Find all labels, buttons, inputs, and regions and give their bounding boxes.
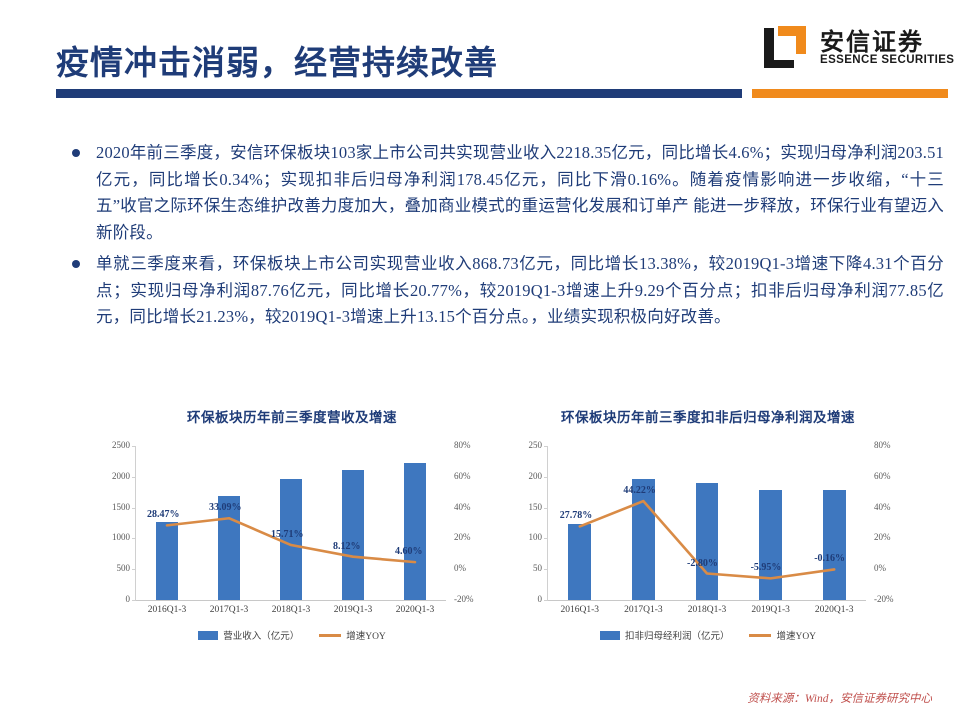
- y2-axis-tick-label: 0%: [454, 563, 490, 573]
- y-axis-line: [135, 446, 136, 600]
- data-point-label: 27.78%: [560, 510, 593, 521]
- y2-axis-tick-label: 40%: [454, 502, 490, 512]
- y-axis-tick-label: 2500: [96, 440, 130, 450]
- bullet-text: 2020年前三季度，安信环保板块103家上市公司共实现营业收入2218.35亿元…: [96, 140, 944, 247]
- legend-item[interactable]: 增速YOY: [319, 628, 386, 642]
- list-item: 单就三季度来看，环保板块上市公司实现营业收入868.73亿元，同比增长13.38…: [64, 251, 944, 331]
- bullet-dot-icon: [72, 149, 80, 157]
- bar-2019Q1-3: [342, 470, 364, 600]
- data-point-label: 8.12%: [333, 541, 361, 552]
- data-point-label: -5.95%: [751, 562, 782, 573]
- y2-axis-tick-label: 20%: [874, 532, 910, 542]
- x-axis-category-label: 2018Q1-3: [675, 605, 739, 615]
- bar-2020Q1-3: [404, 463, 426, 600]
- chart-title: 环保板块历年前三季度扣非后归母净利润及增速: [508, 406, 908, 426]
- logo-english-name: ESSENCE SECURITIES: [820, 54, 954, 66]
- legend-label: 增速YOY: [346, 628, 386, 642]
- chart-title: 环保板块历年前三季度营收及增速: [96, 406, 488, 426]
- y2-axis-tick-label: 60%: [874, 471, 910, 481]
- x-axis-category-label: 2016Q1-3: [136, 605, 198, 615]
- x-axis-category-label: 2020Q1-3: [384, 605, 446, 615]
- y-axis-tick-label: 1000: [96, 532, 130, 542]
- bar-2016Q1-3: [156, 522, 178, 600]
- data-point-label: -2.80%: [687, 558, 718, 569]
- x-axis-category-label: 2017Q1-3: [198, 605, 260, 615]
- essence-logo-mark-icon: [760, 22, 810, 72]
- legend-bar-swatch-icon: [600, 631, 620, 640]
- y-axis-tick-label: 500: [96, 563, 130, 573]
- legend-line-swatch-icon: [319, 634, 341, 637]
- chart-deducted-profit: 环保板块历年前三季度扣非后归母净利润及增速 25020015010050080%…: [508, 400, 908, 670]
- source-note: 资料来源：Wind，安信证券研究中心: [747, 690, 932, 706]
- y2-axis-tick-label: -20%: [454, 594, 490, 604]
- legend-item[interactable]: 增速YOY: [749, 628, 816, 642]
- data-point-label: 4.60%: [395, 546, 423, 557]
- y-axis-tick-label: 150: [508, 502, 542, 512]
- x-axis-category-label: 2019Q1-3: [322, 605, 384, 615]
- y-axis-tick-label: 50: [508, 563, 542, 573]
- chart-legend: 扣非归母经利润（亿元）增速YOY: [508, 628, 908, 642]
- data-point-label: 44.22%: [623, 485, 656, 496]
- data-point-label: 28.47%: [147, 509, 180, 520]
- x-axis-category-label: 2019Q1-3: [739, 605, 803, 615]
- legend-bar-swatch-icon: [198, 631, 218, 640]
- x-axis-category-label: 2018Q1-3: [260, 605, 322, 615]
- legend-item[interactable]: 扣非归母经利润（亿元）: [600, 628, 730, 642]
- y2-axis-tick-label: 40%: [874, 502, 910, 512]
- brand-logo: 安信证券 ESSENCE SECURITIES: [752, 18, 942, 86]
- bullet-list: 2020年前三季度，安信环保板块103家上市公司共实现营业收入2218.35亿元…: [64, 140, 944, 335]
- legend-label: 扣非归母经利润（亿元）: [625, 628, 730, 642]
- y-axis-line: [547, 446, 548, 600]
- chart-plot-area: 25020015010050080%60%40%20%0%-20%2016Q1-…: [508, 442, 908, 620]
- chart-revenue: 环保板块历年前三季度营收及增速 2500200015001000500080%6…: [96, 400, 488, 670]
- y2-axis-tick-label: 20%: [454, 532, 490, 542]
- y-axis-tick-label: 200: [508, 471, 542, 481]
- x-axis-category-label: 2016Q1-3: [548, 605, 612, 615]
- x-axis-category-label: 2017Q1-3: [612, 605, 676, 615]
- x-axis-line: [136, 600, 446, 601]
- y-axis-tick-label: 250: [508, 440, 542, 450]
- legend-label: 营业收入（亿元）: [223, 628, 299, 642]
- x-axis-line: [548, 600, 866, 601]
- y-axis-tick-label: 100: [508, 532, 542, 542]
- y-axis-tick-label: 0: [508, 594, 542, 604]
- data-point-label: 33.09%: [209, 502, 242, 513]
- y-axis-tick-label: 0: [96, 594, 130, 604]
- list-item: 2020年前三季度，安信环保板块103家上市公司共实现营业收入2218.35亿元…: [64, 140, 944, 247]
- bullet-text: 单就三季度来看，环保板块上市公司实现营业收入868.73亿元，同比增长13.38…: [96, 251, 944, 331]
- logo-chinese-name: 安信证券: [820, 22, 924, 57]
- data-point-label: -0.16%: [814, 553, 845, 564]
- y-axis-tick-label: 2000: [96, 471, 130, 481]
- legend-item[interactable]: 营业收入（亿元）: [198, 628, 299, 642]
- bar-2020Q1-3: [823, 490, 846, 600]
- y2-axis-tick-label: 80%: [874, 440, 910, 450]
- data-point-label: 15.71%: [271, 529, 304, 540]
- slide-header: 疫情冲击消弱，经营持续改善 安信证券 ESSENCE SECURITIES: [0, 0, 960, 110]
- logo-underline-bar: [752, 89, 948, 98]
- chart-legend: 营业收入（亿元）增速YOY: [96, 628, 488, 642]
- bar-2017Q1-3: [632, 479, 655, 600]
- title-underline-bar: [56, 89, 742, 98]
- y-axis-tick-label: 1500: [96, 502, 130, 512]
- bar-2018Q1-3: [696, 483, 719, 600]
- y2-axis-tick-label: 60%: [454, 471, 490, 481]
- bar-2019Q1-3: [759, 490, 782, 600]
- y2-axis-tick-label: -20%: [874, 594, 910, 604]
- x-axis-category-label: 2020Q1-3: [802, 605, 866, 615]
- y2-axis-tick-label: 80%: [454, 440, 490, 450]
- bar-2016Q1-3: [568, 524, 591, 600]
- legend-label: 增速YOY: [776, 628, 816, 642]
- chart-plot-area: 2500200015001000500080%60%40%20%0%-20%20…: [96, 442, 488, 620]
- page-title: 疫情冲击消弱，经营持续改善: [56, 36, 498, 84]
- legend-line-swatch-icon: [749, 634, 771, 637]
- bullet-dot-icon: [72, 260, 80, 268]
- y2-axis-tick-label: 0%: [874, 563, 910, 573]
